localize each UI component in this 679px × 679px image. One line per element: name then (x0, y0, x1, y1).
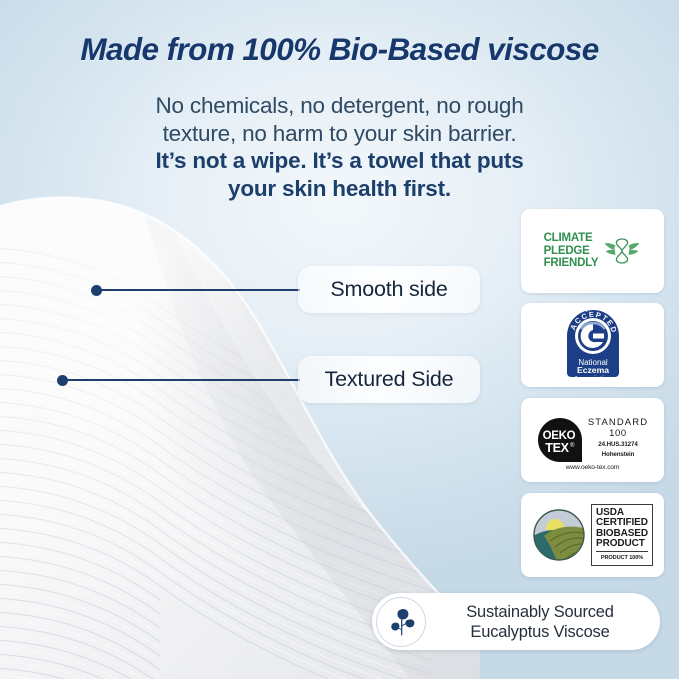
winged-hourglass-icon (603, 234, 641, 268)
climate-pledge-content: CLIMATE PLEDGE FRIENDLY (544, 232, 642, 270)
oeko-standard-number: 100 (609, 428, 627, 439)
eucalyptus-line-2: Eucalyptus Viscose (426, 622, 654, 642)
usda-line-4: PRODUCT (596, 539, 648, 550)
eucalyptus-leaf-icon (384, 605, 418, 639)
oeko-tex-text: STANDARD 100 24.HUS.31274 Hohenstein (588, 417, 648, 459)
eucalyptus-text: Sustainably Sourced Eucalyptus Viscose (426, 602, 660, 642)
badge-national-eczema-association[interactable]: A National Eczema Association ACCEPTED (521, 303, 664, 387)
callout-smooth-side-label: Smooth side (330, 277, 447, 302)
eucalyptus-callout[interactable]: Sustainably Sourced Eucalyptus Viscose (372, 593, 660, 650)
climate-pledge-line-1: CLIMATE (544, 232, 599, 245)
oeko-institute: Hohenstein (602, 451, 635, 459)
nea-seal-icon: A National Eczema Association ACCEPTED (562, 309, 624, 381)
usda-text-box: USDA CERTIFIED BIOBASED PRODUCT PRODUCT … (591, 504, 653, 567)
subheading-line-3: It’s not a wipe. It’s a towel that puts (70, 147, 610, 175)
subheading-line-1: No chemicals, no detergent, no rough (70, 92, 610, 120)
subheading-line-2: texture, no harm to your skin barrier. (70, 120, 610, 148)
oeko-cert-id: 24.HUS.31274 (598, 441, 637, 449)
oeko-tex-icon: OEKO TEX ® (537, 417, 583, 463)
callout-smooth-side[interactable]: Smooth side (298, 266, 480, 313)
oeko-registered-mark: ® (570, 442, 575, 449)
product-infographic: Made from 100% Bio-Based viscose No chem… (0, 0, 679, 679)
page-title: Made from 100% Bio-Based viscose (0, 31, 679, 68)
usda-biobased-icon (532, 508, 586, 562)
climate-pledge-line-2: PLEDGE (544, 245, 599, 258)
callout-textured-side-label: Textured Side (325, 367, 454, 392)
eucalyptus-icon-circle (376, 597, 426, 647)
eucalyptus-line-1: Sustainably Sourced (426, 602, 654, 622)
climate-pledge-text: CLIMATE PLEDGE FRIENDLY (544, 232, 599, 270)
usda-sub-label: PRODUCT 100% (596, 551, 648, 564)
oeko-tex-content: OEKO TEX ® STANDARD 100 24.HUS.31274 Hoh… (537, 417, 648, 463)
oeko-mark-bottom: TEX (545, 441, 569, 455)
callout-leader-textured-side (62, 379, 300, 381)
badge-oeko-tex[interactable]: OEKO TEX ® STANDARD 100 24.HUS.31274 Hoh… (521, 398, 664, 482)
callout-textured-side[interactable]: Textured Side (298, 356, 480, 403)
callout-leader-smooth-side (96, 289, 300, 291)
usda-content: USDA CERTIFIED BIOBASED PRODUCT PRODUCT … (532, 504, 653, 567)
nea-line-3: Association (573, 374, 612, 381)
climate-pledge-line-3: FRIENDLY (544, 257, 599, 270)
subheading: No chemicals, no detergent, no rough tex… (70, 92, 610, 202)
badge-climate-pledge-friendly[interactable]: CLIMATE PLEDGE FRIENDLY (521, 209, 664, 293)
badge-usda-certified-biobased[interactable]: USDA CERTIFIED BIOBASED PRODUCT PRODUCT … (521, 493, 664, 577)
oeko-standard-label: STANDARD (588, 417, 648, 428)
subheading-line-4: your skin health first. (70, 175, 610, 203)
oeko-url: www.oeko-tex.com (521, 464, 664, 471)
